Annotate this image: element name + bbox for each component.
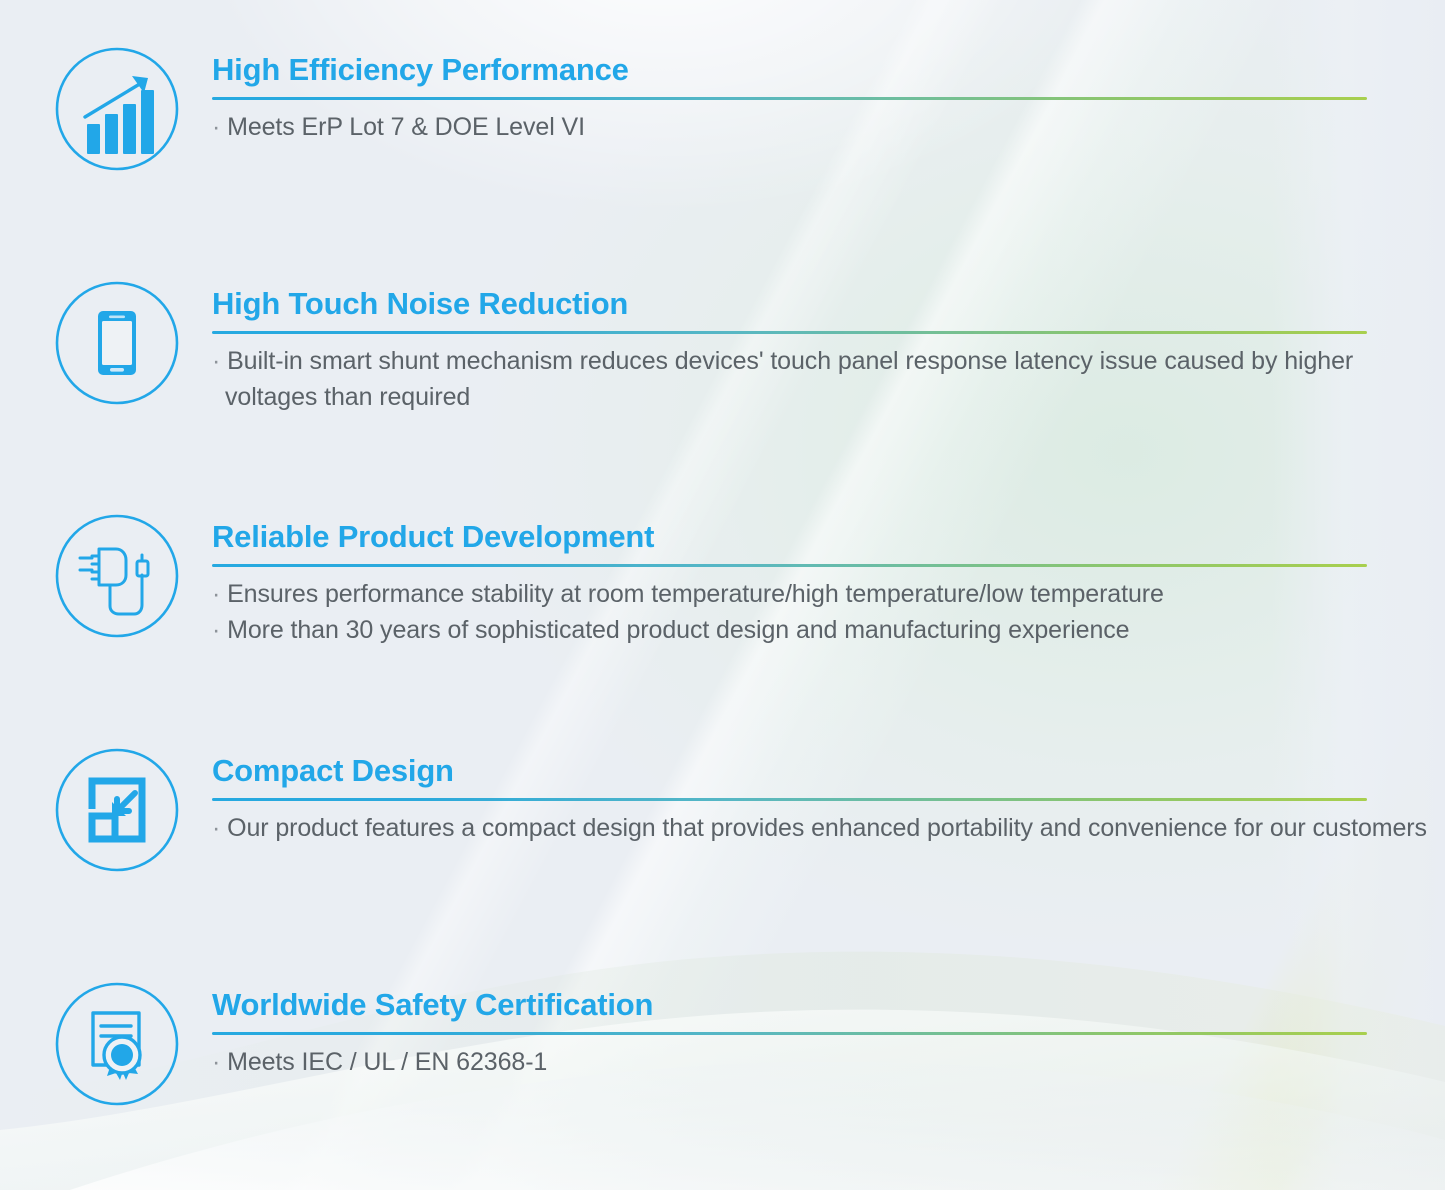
power-adapter-icon	[54, 513, 180, 639]
feature-bullet-list: · Meets IEC / UL / EN 62368-1	[212, 1044, 1445, 1081]
feature-bullet-list: · Meets ErP Lot 7 & DOE Level VI	[212, 109, 1445, 146]
feature-divider-rule	[212, 564, 1367, 567]
certificate-award-icon	[54, 981, 180, 1107]
feature-bullet-list: · Built-in smart shunt mechanism reduces…	[212, 343, 1445, 417]
feature-divider-rule	[212, 97, 1367, 100]
compact-resize-icon	[54, 747, 180, 873]
feature-bullet-item: · Meets ErP Lot 7 & DOE Level VI	[212, 109, 1445, 146]
feature-divider-rule	[212, 798, 1367, 801]
bullet-marker: ·	[212, 347, 220, 375]
feature-divider-rule	[212, 1032, 1367, 1035]
feature-bullet-item: · Ensures performance stability at room …	[212, 576, 1445, 613]
bullet-marker: ·	[212, 1048, 220, 1076]
bar-chart-growth-icon	[54, 46, 180, 172]
feature-bullet-item: · Meets IEC / UL / EN 62368-1	[212, 1044, 1445, 1081]
feature-title: Compact Design	[212, 755, 1445, 788]
bullet-marker: ·	[212, 814, 220, 842]
feature-bullet-item: · Our product features a compact design …	[212, 810, 1445, 847]
feature-bullet-text: Built-in smart shunt mechanism reduces d…	[225, 347, 1353, 412]
feature-body: High Touch Noise Reduction · Built-in sm…	[212, 288, 1445, 416]
feature-title: Reliable Product Development	[212, 521, 1445, 554]
feature-bullet-item: · Built-in smart shunt mechanism reduces…	[212, 343, 1445, 417]
feature-divider-rule	[212, 331, 1367, 334]
feature-bullet-list: · Our product features a compact design …	[212, 810, 1445, 847]
feature-body: Reliable Product Development · Ensures p…	[212, 521, 1445, 649]
feature-bullet-item: · More than 30 years of sophisticated pr…	[212, 612, 1445, 649]
bullet-marker: ·	[212, 580, 220, 608]
feature-body: Worldwide Safety Certification · Meets I…	[212, 989, 1445, 1080]
feature-title: High Touch Noise Reduction	[212, 288, 1445, 321]
feature-body: High Efficiency Performance · Meets ErP …	[212, 54, 1445, 145]
feature-bullet-list: · Ensures performance stability at room …	[212, 576, 1445, 650]
bullet-marker: ·	[212, 113, 220, 141]
feature-bullet-text: Our product features a compact design th…	[227, 814, 1427, 842]
feature-title: Worldwide Safety Certification	[212, 989, 1445, 1022]
feature-bullet-text: Meets ErP Lot 7 & DOE Level VI	[227, 113, 585, 141]
feature-bullet-text: Ensures performance stability at room te…	[227, 580, 1164, 608]
feature-bullet-text: More than 30 years of sophisticated prod…	[227, 616, 1129, 644]
feature-title: High Efficiency Performance	[212, 54, 1445, 87]
feature-list-page: High Efficiency Performance · Meets ErP …	[0, 0, 1445, 1190]
feature-body: Compact Design · Our product features a …	[212, 755, 1445, 846]
feature-bullet-text: Meets IEC / UL / EN 62368-1	[227, 1048, 547, 1076]
smartphone-icon	[54, 280, 180, 406]
bullet-marker: ·	[212, 616, 220, 644]
